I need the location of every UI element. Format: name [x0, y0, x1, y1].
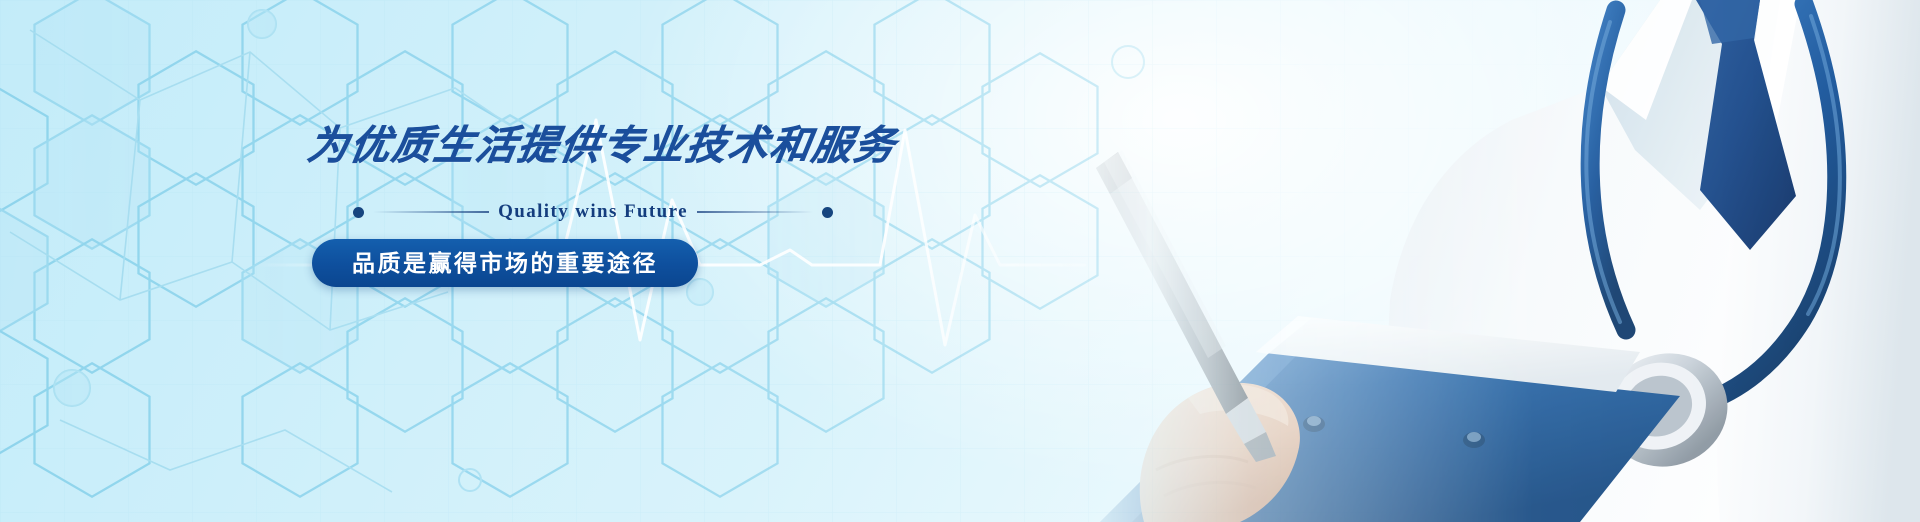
tagline-row: Quality wins Future: [353, 201, 833, 223]
slogan-pill-button[interactable]: 品质是赢得市场的重要途径: [312, 239, 698, 287]
hero-banner: 为优质生活提供专业技术和服务 Quality wins Future 品质是赢得…: [0, 0, 1920, 522]
tagline-english: Quality wins Future: [498, 201, 688, 223]
gradient-rule-left: [373, 211, 489, 213]
doctor-photo: [1060, 0, 1920, 522]
bullet-dot-right-icon: [822, 207, 833, 218]
hexagon-molecule-pattern: [0, 0, 1920, 522]
slogan-pill-label: 品质是赢得市场的重要途径: [352, 252, 658, 275]
gradient-rule-right: [697, 211, 813, 213]
grid-pattern: [0, 0, 1920, 522]
banner-text-block: 为优质生活提供专业技术和服务 Quality wins Future 品质是赢得…: [305, 126, 925, 287]
page-title: 为优质生活提供专业技术和服务: [305, 126, 931, 166]
ecg-pulse-line: [0, 0, 1920, 522]
bullet-dot-left-icon: [353, 207, 364, 218]
